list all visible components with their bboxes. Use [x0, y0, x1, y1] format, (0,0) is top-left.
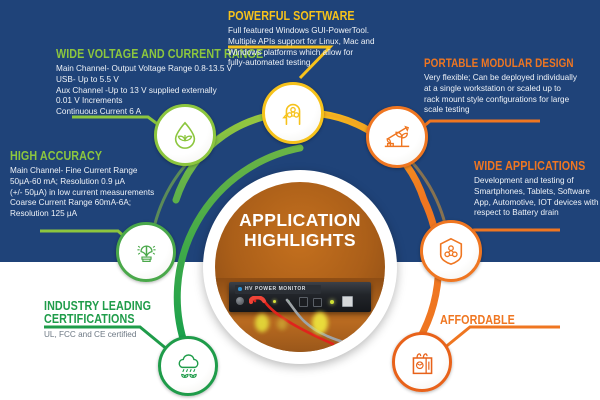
- desk-reflection-3: [277, 318, 287, 330]
- desk-reflection-1: [255, 314, 269, 332]
- line: Coarse Current Range 60mA-6A;: [10, 198, 250, 209]
- desk-reflection-2: [312, 312, 328, 334]
- center-hub: APPLICATION HIGHLIGHTS HV POWER MONITOR: [203, 170, 397, 364]
- gift-bag-icon: [408, 348, 437, 377]
- node-head-gears[interactable]: [262, 82, 324, 144]
- line: respect to Battery drain: [474, 208, 600, 219]
- lightbulb-leaf-icon: [132, 238, 161, 267]
- device-label: HV POWER MONITOR: [235, 285, 321, 294]
- heading-powerful-software: POWERFUL SOFTWARE: [228, 10, 413, 23]
- block-portable-modular-design: PORTABLE MODULAR DESIGN Very flexible; C…: [424, 58, 600, 116]
- hub-title: APPLICATION HIGHLIGHTS: [215, 210, 385, 251]
- node-gift-bag[interactable]: [392, 332, 452, 392]
- line: Development and testing of: [474, 176, 600, 187]
- line: at a single workstation or scaled up to: [424, 84, 600, 95]
- hexagon-molecule-icon: [436, 236, 466, 266]
- line: Very flexible; Can be deployed individua…: [424, 73, 600, 84]
- device-brand-dot: [238, 287, 242, 291]
- line: fully-automated testing: [228, 58, 443, 69]
- block-industry-leading-certifications: INDUSTRY LEADING CERTIFICATIONS UL, FCC …: [44, 300, 214, 340]
- block-powerful-software: POWERFUL SOFTWARE Full featured Windows …: [228, 10, 443, 69]
- line: Windows platforms which allow for: [228, 48, 443, 59]
- node-plant-tools[interactable]: [366, 106, 428, 168]
- power-monitor-device: HV POWER MONITOR: [229, 282, 371, 312]
- device-knob: [236, 297, 244, 305]
- node-droplet-leaves[interactable]: [154, 104, 216, 166]
- hub-title-line1: APPLICATION: [215, 210, 385, 230]
- heading-portable-modular-design: PORTABLE MODULAR DESIGN: [424, 58, 579, 70]
- node-hex-molecule[interactable]: [420, 220, 482, 282]
- heading-wide-applications: WIDE APPLICATIONS: [474, 160, 600, 173]
- hub-photo: APPLICATION HIGHLIGHTS HV POWER MONITOR: [215, 182, 385, 352]
- line: USB- Up to 5.5 V: [56, 75, 306, 86]
- line: 50µA-60 mA; Resolution 0.9 µA: [10, 177, 250, 188]
- block-affordable: AFFORDABLE: [440, 314, 600, 327]
- line: scale testing: [424, 105, 600, 116]
- line: Main Channel- Fine Current Range: [10, 166, 250, 177]
- line: Full featured Windows GUI-PowerTool.: [228, 26, 443, 37]
- rain-cloud-seedlings-icon: [174, 352, 203, 381]
- hub-title-line2: HIGHLIGHTS: [215, 230, 385, 250]
- line: (+/- 50µA) in low current measurements: [10, 188, 250, 199]
- node-rain-cloud[interactable]: [158, 336, 218, 396]
- heading-affordable: AFFORDABLE: [440, 314, 578, 327]
- block-wide-applications: WIDE APPLICATIONS Development and testin…: [474, 160, 600, 219]
- droplet-leaves-icon: [170, 120, 200, 150]
- node-bulb-leaf[interactable]: [116, 222, 176, 282]
- heading-certifications-line1: INDUSTRY LEADING: [44, 300, 190, 313]
- heading-certifications-line2: CERTIFICATIONS: [44, 313, 190, 326]
- line: Multiple APIs support for Linux, Mac and: [228, 37, 443, 48]
- plant-tools-icon: [382, 122, 412, 152]
- infographic-canvas: APPLICATION HIGHLIGHTS HV POWER MONITOR: [0, 0, 600, 400]
- line: Smartphones, Tablets, Software: [474, 187, 600, 198]
- head-gears-icon: [278, 98, 308, 128]
- line: rack mount style configurations for larg…: [424, 95, 600, 106]
- block-high-accuracy: HIGH ACCURACY Main Channel- Fine Current…: [10, 150, 250, 220]
- line: Resolution 125 µA: [10, 209, 250, 220]
- line: App, Automotive, IOT devices with: [474, 198, 600, 209]
